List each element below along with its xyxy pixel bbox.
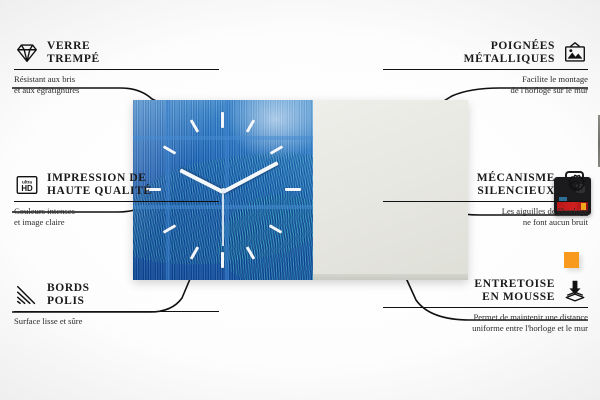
feature-title-line2: HAUTE QUALITÉ	[47, 185, 152, 197]
feature-silent-mechanism: MÉCANISME SILENCIEUX Les aiguilles de l'…	[383, 172, 588, 227]
feature-metal-hangers: POIGNÉES MÉTALLIQUES Facilite le montage…	[383, 40, 588, 95]
divider	[383, 201, 588, 202]
infographic-canvas: VERRE TREMPÉ Résistant aux bris et aux é…	[0, 0, 600, 400]
feature-foam-spacer: ENTRETOISE EN MOUSSE Permet de maintenir…	[383, 278, 588, 333]
clock-tick	[221, 112, 224, 128]
divider	[383, 69, 588, 70]
foam-spacer-pad	[564, 252, 579, 268]
divider	[14, 69, 219, 70]
feature-subtitle-line2: de l'horloge sur le mur	[511, 85, 588, 95]
divider	[383, 307, 588, 308]
foam-spacer-icon	[562, 278, 588, 304]
feature-title-line2: POLIS	[47, 295, 85, 307]
feature-subtitle-line1: Facilite le montage	[522, 74, 588, 84]
feature-title-line2: EN MOUSSE	[482, 291, 555, 303]
clock-tick	[221, 252, 224, 268]
feature-title-line1: BORDS	[47, 282, 90, 294]
feature-title-line1: POIGNÉES	[491, 40, 555, 52]
feature-title-line1: ENTRETOISE	[474, 278, 555, 290]
feature-subtitle-line1: Résistant aux bris	[14, 74, 75, 84]
feature-title-line2: TREMPÉ	[47, 53, 100, 65]
feature-subtitle-line1: Surface lisse et sûre	[14, 316, 83, 326]
feature-title-line1: VERRE	[47, 40, 90, 52]
gear-icon	[562, 172, 588, 198]
feature-print-quality: ultra HD IMPRESSION DE HAUTE QUALITÉ Cou…	[14, 172, 219, 227]
feature-subtitle-line2: et image claire	[14, 217, 65, 227]
feature-tempered-glass: VERRE TREMPÉ Résistant aux bris et aux é…	[14, 40, 219, 95]
pattern-grid-line	[133, 136, 313, 140]
ultra-hd-icon-bottom: HD	[21, 184, 33, 193]
feature-title-line2: MÉTALLIQUES	[464, 53, 555, 65]
clock-second-hand	[222, 190, 224, 246]
feature-subtitle-line1: Permet de maintenir une distance	[473, 312, 588, 322]
ultra-hd-icon: ultra HD	[14, 172, 40, 198]
feature-polished-edges: BORDS POLIS Surface lisse et sûre	[14, 282, 219, 327]
divider	[14, 201, 219, 202]
divider	[14, 311, 219, 312]
picture-hanger-icon	[562, 40, 588, 66]
clock-tick	[285, 188, 301, 191]
feature-title-line1: MÉCANISME	[477, 172, 555, 184]
clock-center-cap	[221, 188, 226, 193]
feature-subtitle-line2: et aux égratignures	[14, 85, 79, 95]
feature-title-line1: IMPRESSION DE	[47, 172, 147, 184]
feature-title-line2: SILENCIEUX	[477, 185, 555, 197]
feature-subtitle-line2: ne font aucun bruit	[523, 217, 588, 227]
diamond-icon	[14, 40, 40, 66]
feature-subtitle-line2: uniforme entre l'horloge et le mur	[472, 323, 588, 333]
polished-edges-icon	[14, 282, 40, 308]
feature-subtitle-line1: Les aiguilles de l'horloge	[502, 206, 588, 216]
feature-subtitle-line1: Couleurs intenses	[14, 206, 75, 216]
